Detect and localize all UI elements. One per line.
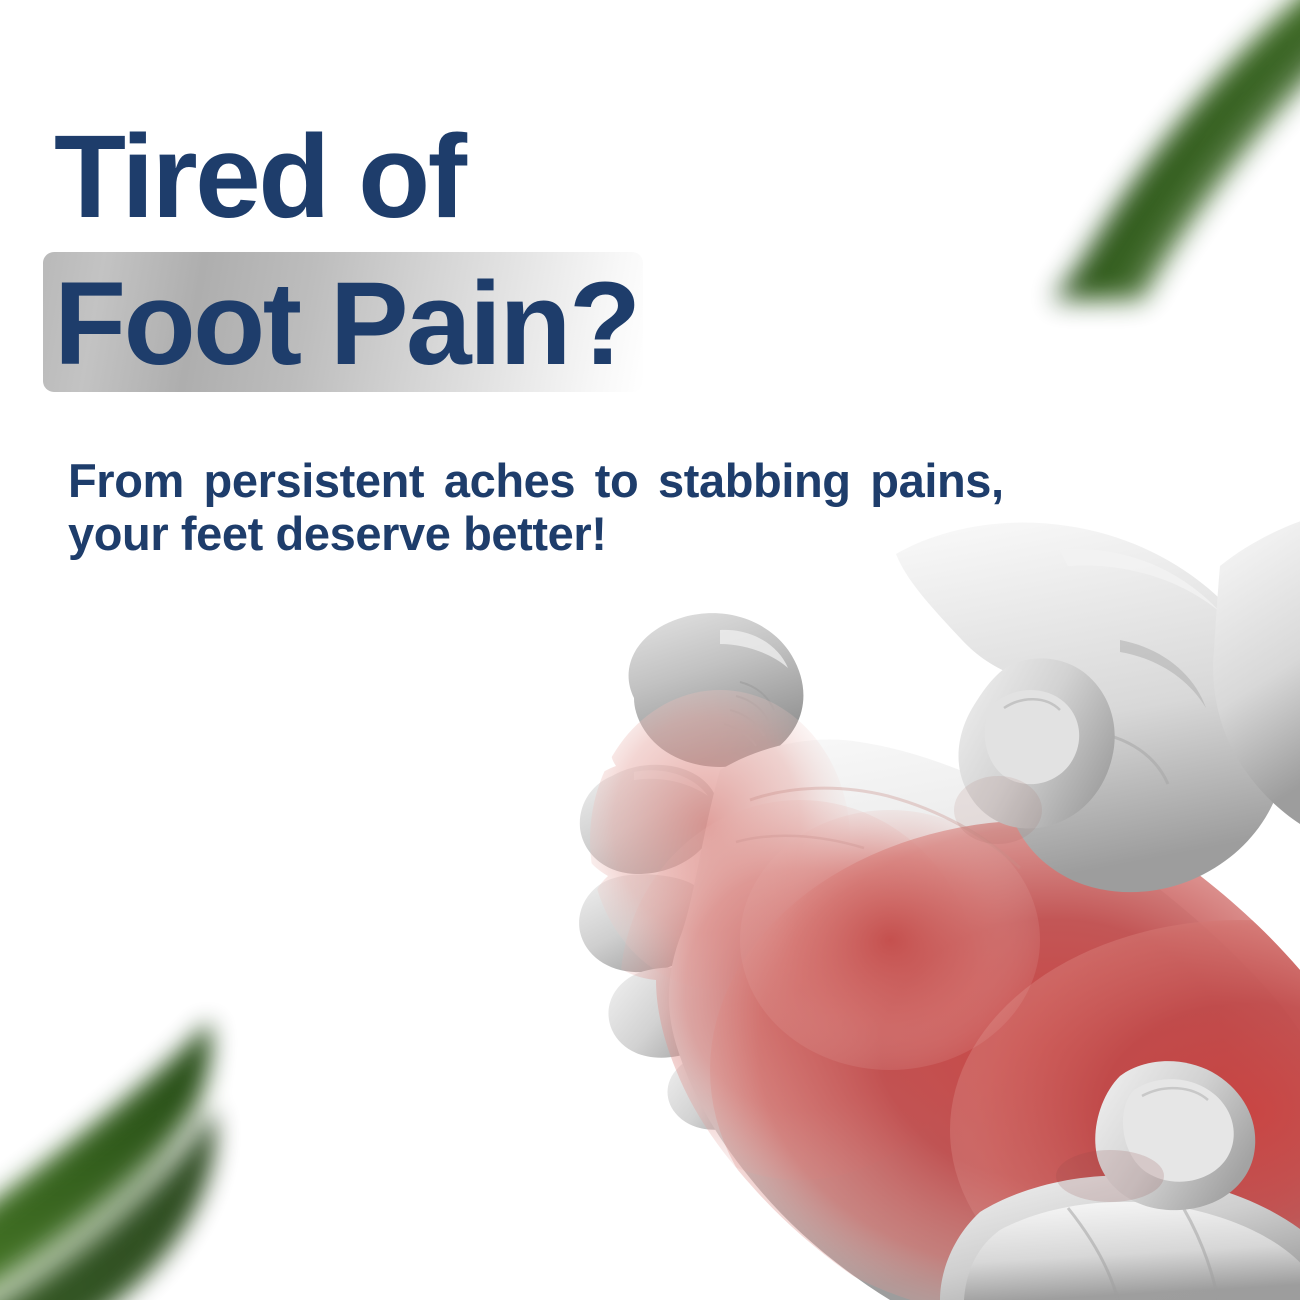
poster-canvas: Tired of Foot Pain? From persistent ache… [0,0,1300,1300]
foot-pain-photo [420,470,1300,1300]
leaf-top-right-icon [960,0,1300,300]
headline-line-2: Foot Pain? [54,258,639,390]
headline-line-1: Tired of [43,118,803,236]
headline-block: Tired of Foot Pain? [43,118,803,392]
leaf-bottom-left-icon [0,985,285,1300]
headline-highlight: Foot Pain? [43,252,643,392]
